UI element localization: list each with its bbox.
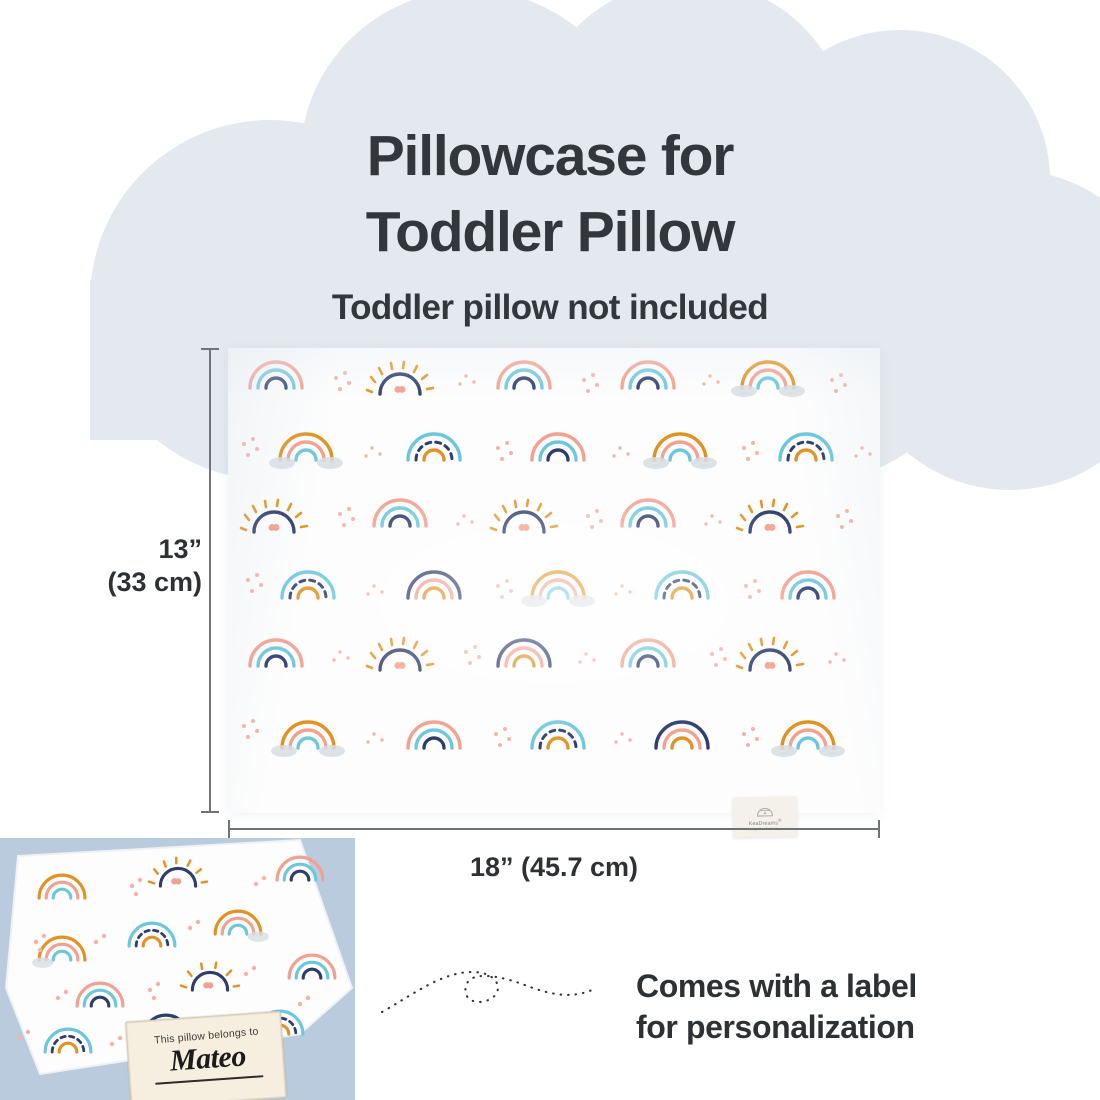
height-value-cm: (33 cm) (62, 566, 202, 599)
brand-care-tag: KeaDreams® by KeaBabies (733, 796, 798, 837)
caption-line-2: for personalization (636, 1007, 1056, 1048)
name-label-patch: This pillow belongs to Mateo (125, 1015, 290, 1100)
infographic-canvas: Pillowcase for Toddler Pillow Toddler pi… (0, 0, 1100, 1100)
subtitle-disclaimer: Toddler pillow not included (0, 286, 1100, 330)
pillowcase-product-image (228, 348, 880, 813)
width-dimension-label: 18” (45.7 cm) (284, 852, 824, 883)
personalization-caption: Comes with a label for personalization (636, 966, 1056, 1048)
height-dimension-line (209, 348, 211, 813)
width-dimension-line (228, 828, 880, 830)
height-dimension-label: 13” (33 cm) (62, 533, 202, 599)
title-line-2: Toddler Pillow (0, 194, 1100, 270)
rainbow-pattern (228, 348, 880, 813)
dotted-connector-line (380, 950, 630, 1070)
page-title: Pillowcase for Toddler Pillow Toddler pi… (0, 118, 1100, 330)
caption-line-1: Comes with a label (636, 966, 1056, 1007)
title-line-1: Pillowcase for (0, 118, 1100, 194)
height-value-inches: 13” (62, 533, 202, 566)
keababies-logo-icon (754, 802, 776, 817)
care-tag-registered-mark: ® (778, 818, 782, 823)
